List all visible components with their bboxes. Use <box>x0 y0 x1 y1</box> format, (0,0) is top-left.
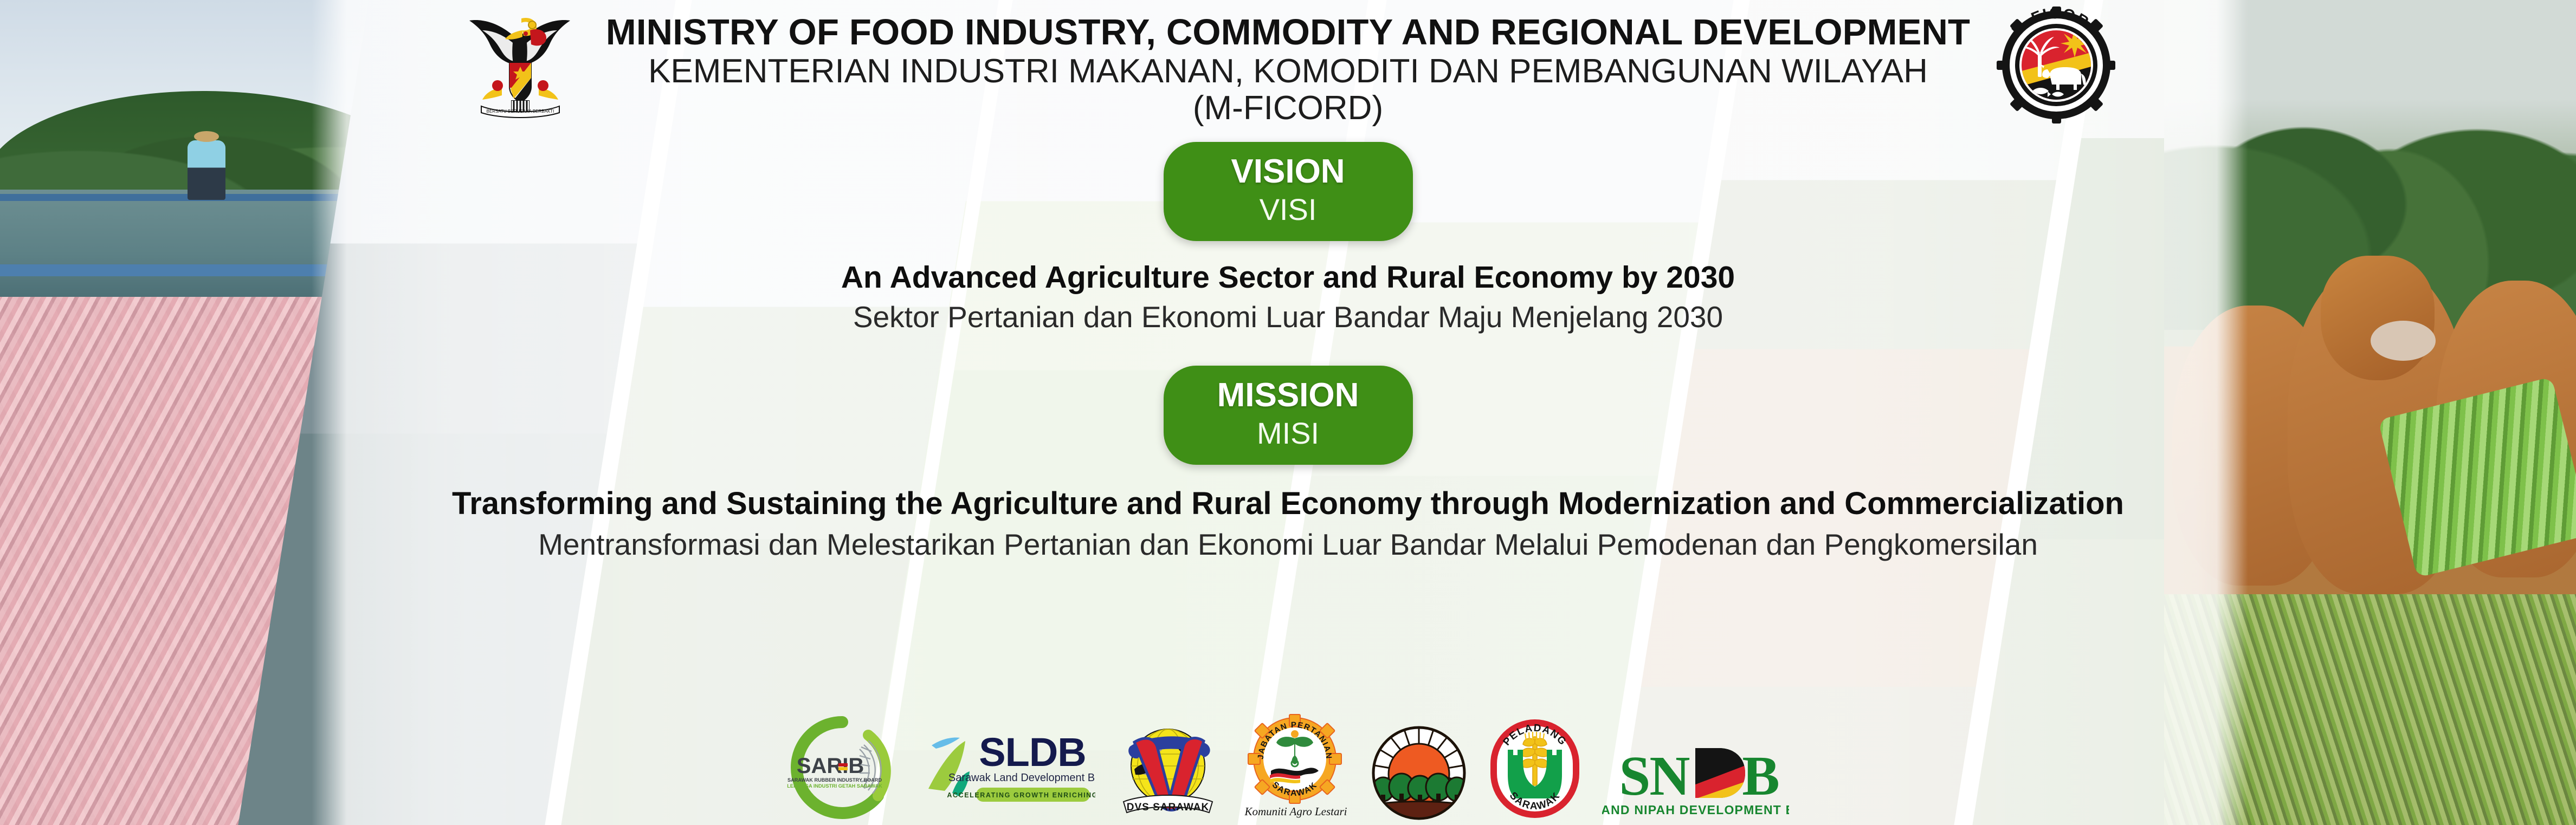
mission-badge-label-my: MISI <box>1164 416 1413 451</box>
vision-badge-label-en: VISION <box>1164 154 1413 190</box>
sarib-acronym: SARIB <box>797 754 864 778</box>
sldb-acronym: SLDB <box>979 730 1086 775</box>
jabatan-tagline: Komuniti Agro Lestari <box>1244 805 1347 818</box>
sldb-tagline: ACCELERATING GROWTH ENRICHING LIFE <box>947 791 1095 799</box>
ministry-titles: MINISTRY OF FOOD INDUSTRY, COMMODITY AND… <box>606 3 1970 127</box>
vision-statement-en: An Advanced Agriculture Sector and Rural… <box>841 259 1735 296</box>
ministry-title-en: MINISTRY OF FOOD INDUSTRY, COMMODITY AND… <box>606 13 1970 52</box>
ministry-title-my: KEMENTERIAN INDUSTRI MAKANAN, KOMODITI D… <box>606 53 1970 90</box>
ministry-title-abbr: (M-FICORD) <box>606 89 1970 127</box>
mission-statement: Transforming and Sustaining the Agricult… <box>452 485 2124 563</box>
m-ficord-logo-icon: M-FICORD <box>1989 3 2124 124</box>
crest-motto-text: BERSATU BERUSAHA BERBAKTI <box>486 109 554 114</box>
mission-statement-my: Mentransformasi dan Melestarikan Pertani… <box>452 527 2124 563</box>
sarib-logo-icon: SARIB SARAWAK RUBBER INDUSTRY BOARD LEMB… <box>787 713 898 822</box>
svg-text:B: B <box>1742 745 1778 807</box>
banner-content: BERSATU BERUSAHA BERBAKTI MINISTRY OF FO… <box>0 0 2576 825</box>
agency-logo-strip: SARIB SARAWAK RUBBER INDUSTRY BOARD LEMB… <box>0 713 2576 822</box>
vision-statement: An Advanced Agriculture Sector and Rural… <box>841 259 1735 335</box>
dvs-sarawak-logo-icon: DVS SARAWAK <box>1114 716 1222 822</box>
vision-statement-my: Sektor Pertanian dan Ekonomi Luar Bandar… <box>841 299 1735 335</box>
sldb-name-en: Sarawak Land Development Board <box>948 772 1095 784</box>
vision-mission-banner: BERSATU BERUSAHA BERBAKTI MINISTRY OF FO… <box>0 0 2576 825</box>
sunburst-plantation-emblem-icon <box>1370 724 1468 822</box>
mission-badge: MISSION MISI <box>1164 366 1413 465</box>
vision-badge-label-my: VISI <box>1164 192 1413 227</box>
peladang-sarawak-logo-icon: PELADANG SARAWAK <box>1486 716 1584 822</box>
sarawak-coat-of-arms-icon: BERSATU BERUSAHA BERBAKTI <box>452 3 587 120</box>
sndb-name-en: SAGO AND NIPAH DEVELOPMENT BOARD <box>1602 803 1789 817</box>
dvs-acronym: DVS SARAWAK <box>1127 802 1209 813</box>
mission-statement-en: Transforming and Sustaining the Agricult… <box>452 485 2124 522</box>
mission-badge-label-en: MISSION <box>1164 378 1413 414</box>
sndb-logo-icon: SN B SAGO AND NIPAH DEVELOPMENT BOARD <box>1602 740 1789 822</box>
banner-header: BERSATU BERUSAHA BERBAKTI MINISTRY OF FO… <box>0 3 2576 127</box>
svg-text:SN: SN <box>1619 745 1690 807</box>
sldb-logo-icon: SLDB Sarawak Land Development Board ACCE… <box>916 722 1095 822</box>
jabatan-pertanian-sarawak-logo-icon: JABATAN PERTANIAN SARAWAK Komuniti Agro … <box>1241 713 1352 822</box>
vision-badge: VISION VISI <box>1164 142 1413 241</box>
sarib-name-my: LEMBAGA INDUSTRI GETAH SARAWAK <box>787 783 882 789</box>
sarib-name-en: SARAWAK RUBBER INDUSTRY BOARD <box>787 777 882 783</box>
